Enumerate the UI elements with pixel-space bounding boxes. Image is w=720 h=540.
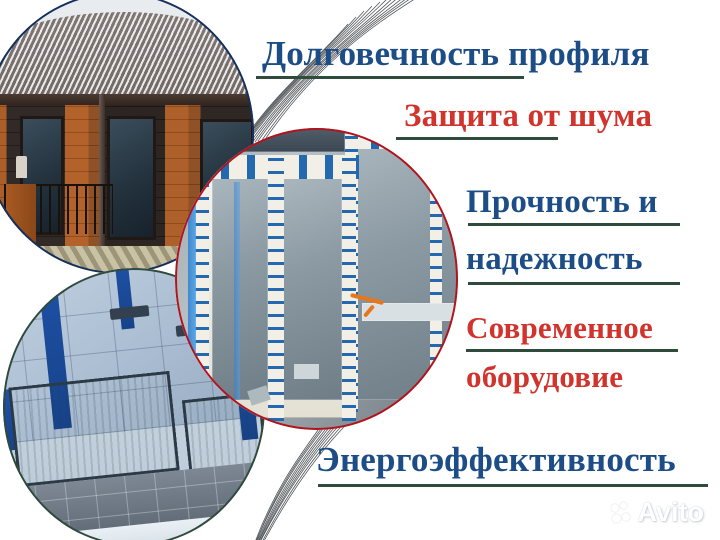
veka-windows-photo: [175, 128, 458, 430]
avito-dots-icon: [611, 502, 633, 524]
headline-rule-modern: [466, 349, 678, 352]
avito-watermark: Avito: [611, 497, 705, 528]
headline-strength: Прочность и: [466, 184, 658, 221]
photo-circle-veka-windows: [175, 128, 458, 430]
headline-rule-reliability: [468, 282, 680, 285]
headline-rule-strength: [468, 223, 680, 226]
headline-equipment: оборудовие: [466, 359, 623, 395]
headline-rule-energy-efficiency: [318, 484, 708, 487]
poster-canvas: Долговечность профиля Защита от шума Про…: [0, 0, 720, 540]
headline-durability: Долговечность профиля: [262, 34, 650, 74]
headline-rule-durability: [256, 76, 524, 79]
headline-noise-protection: Защита от шума: [404, 98, 652, 135]
headline-rule-noise-protection: [396, 137, 558, 140]
headline-energy-efficiency: Энергоэффективность: [316, 440, 676, 480]
headline-reliability: надежность: [466, 241, 643, 278]
avito-watermark-label: Avito: [638, 497, 705, 528]
headline-modern: Современное: [466, 310, 653, 346]
